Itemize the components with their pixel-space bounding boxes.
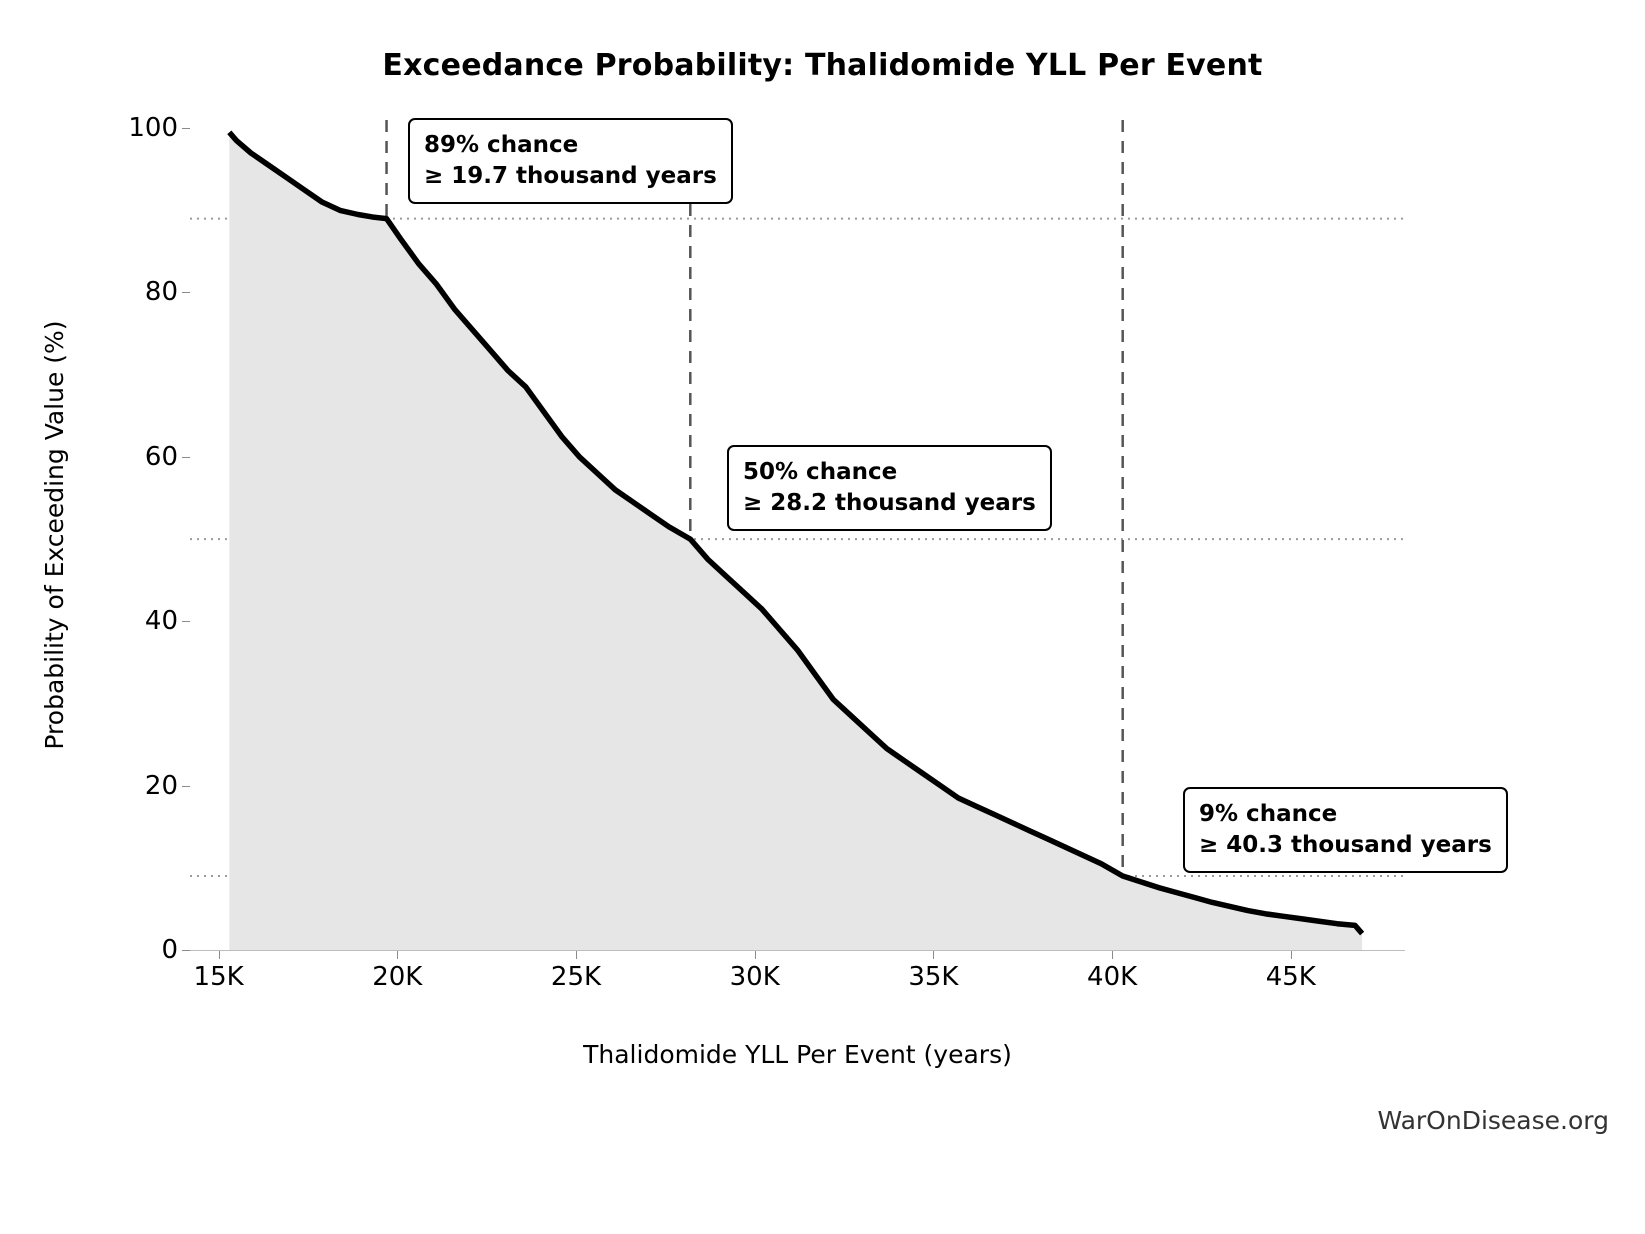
x-tick-20k: 20K	[372, 962, 422, 992]
page-title: Exceedance Probability: Thalidomide YLL …	[0, 48, 1645, 83]
y-tick-40: 40	[145, 606, 178, 636]
x-axis-spine	[190, 950, 1405, 951]
annotation-9-line2: ≥ 40.3 thousand years	[1199, 830, 1492, 861]
y-axis-label: Probability of Exceeding Value (%)	[40, 120, 80, 950]
y-axis-tick-labels: 0 20 40 60 80 100	[100, 120, 178, 950]
y-tick-80: 80	[145, 277, 178, 307]
y-tick-0: 0	[161, 935, 178, 965]
annotation-9-percent: 9% chance ≥ 40.3 thousand years	[1183, 787, 1508, 873]
x-tick-25k: 25K	[551, 962, 601, 992]
annotation-50-percent: 50% chance ≥ 28.2 thousand years	[727, 445, 1052, 531]
annotation-9-line1: 9% chance	[1199, 801, 1337, 827]
annotation-89-percent: 89% chance ≥ 19.7 thousand years	[408, 118, 733, 204]
x-tick-15k: 15K	[194, 962, 244, 992]
annotation-50-line2: ≥ 28.2 thousand years	[743, 488, 1036, 519]
annotation-89-line1: 89% chance	[424, 132, 578, 158]
x-tick-35k: 35K	[908, 962, 958, 992]
x-tick-30k: 30K	[730, 962, 780, 992]
y-tick-20: 20	[145, 771, 178, 801]
x-tick-45k: 45K	[1266, 962, 1316, 992]
chart-figure: Exceedance Probability: Thalidomide YLL …	[0, 0, 1645, 1234]
footer-credit: WarOnDisease.org	[1377, 1106, 1609, 1135]
y-tick-100: 100	[128, 113, 178, 143]
x-axis-label: Thalidomide YLL Per Event (years)	[190, 1040, 1405, 1069]
annotation-89-line2: ≥ 19.7 thousand years	[424, 161, 717, 192]
annotation-50-line1: 50% chance	[743, 459, 897, 485]
x-axis-tick-labels: 15K 20K 25K 30K 35K 40K 45K	[190, 962, 1405, 1002]
x-tick-40k: 40K	[1087, 962, 1137, 992]
y-tick-60: 60	[145, 442, 178, 472]
